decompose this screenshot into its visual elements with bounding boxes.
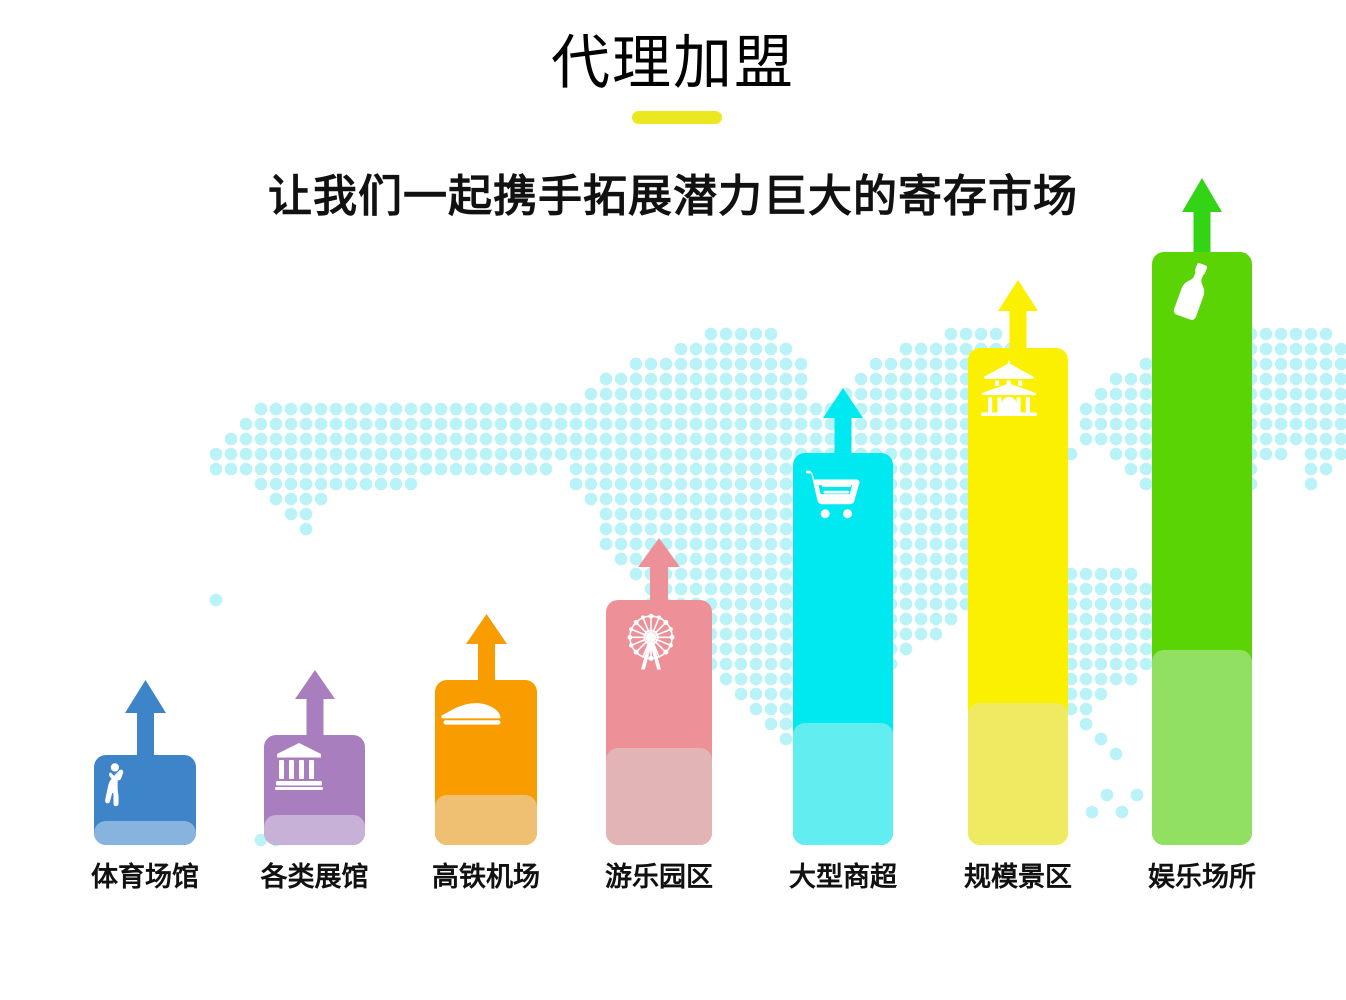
bar-label-娱乐场所: 娱乐场所: [1112, 855, 1292, 894]
growth-arrow-高铁机场: [466, 614, 507, 686]
bar-segment-light: [968, 703, 1068, 845]
bar-segment-light: [435, 795, 537, 845]
bar-segment-light: [793, 723, 893, 845]
bar-segment-light: [94, 821, 196, 845]
basketball-player-icon: [102, 761, 148, 812]
bullet-train-icon: [441, 688, 503, 755]
ferris-wheel-icon: [620, 610, 682, 677]
bar-娱乐场所[interactable]: [1152, 252, 1252, 845]
growth-arrow-各类展馆: [295, 670, 335, 740]
pagoda-icon: [980, 358, 1038, 421]
bar-chart: 体育场馆 各类展馆: [0, 0, 1346, 1000]
growth-arrow-娱乐场所: [1182, 178, 1222, 258]
growth-arrow-游乐园区: [638, 538, 680, 606]
growth-arrow-规模景区: [998, 280, 1038, 354]
bar-label-体育场馆: 体育场馆: [54, 855, 236, 894]
bar-label-大型商超: 大型商超: [753, 855, 933, 894]
bar-segment-light: [264, 815, 365, 845]
bar-label-各类展馆: 各类展馆: [224, 855, 405, 894]
bottle-icon: [1164, 262, 1222, 325]
bar-label-高铁机场: 高铁机场: [395, 855, 577, 894]
shopping-cart-icon: [805, 465, 861, 526]
bar-label-游乐园区: 游乐园区: [566, 855, 752, 894]
museum-icon: [274, 741, 324, 796]
infographic-canvas: 代理加盟 让我们一起携手拓展潜力巨大的寄存市场 体育场馆 各类展馆: [0, 0, 1346, 1000]
growth-arrow-体育场馆: [125, 680, 166, 758]
bar-规模景区[interactable]: [968, 348, 1068, 845]
header: 代理加盟: [0, 0, 1346, 94]
bar-segment-light: [606, 748, 712, 845]
page-title: 代理加盟: [0, 32, 1346, 94]
bar-label-规模景区: 规模景区: [928, 855, 1108, 894]
growth-arrow-大型商超: [823, 388, 863, 460]
bar-segment-light: [1152, 650, 1252, 845]
